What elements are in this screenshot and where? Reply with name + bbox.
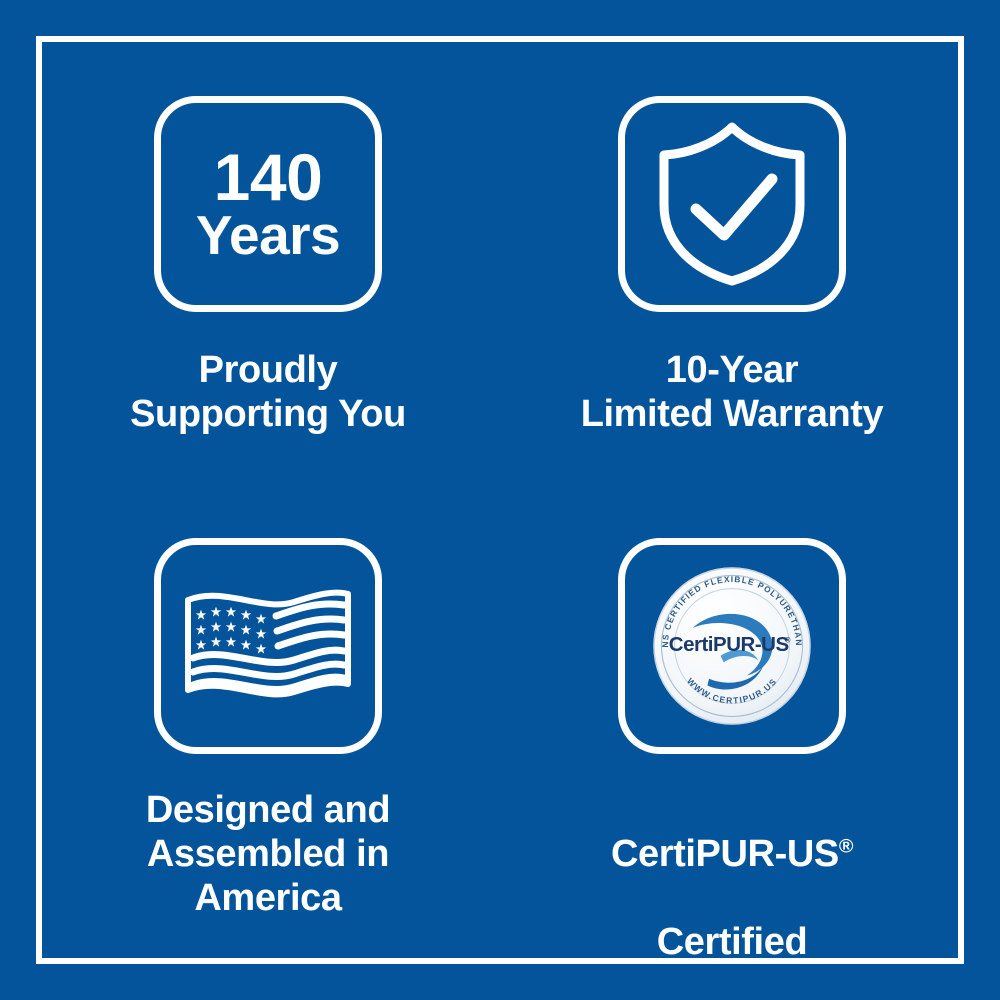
badge-warranty: 10-Year Limited Warranty <box>500 36 964 478</box>
flag-stars <box>196 606 266 653</box>
badge-caption-certipur-certified: CertiPUR-US® Certified <box>611 788 853 964</box>
shield-check-icon <box>652 121 812 287</box>
badge-certipur: CONTAINS CERTIFIED FLEXIBLE POLYURETHANE… <box>500 478 964 964</box>
badge-caption-designed-assembled-america: Designed and Assembled in America <box>146 788 390 920</box>
shield-check-icon-box <box>618 96 846 312</box>
badge-caption-limited-warranty: 10-Year Limited Warranty <box>581 348 884 436</box>
badge-grid: 140 Years Proudly Supporting You 10-Year… <box>36 36 964 964</box>
years-unit: Years <box>196 209 340 262</box>
text-badge-140-years-icon: 140 Years <box>154 96 382 312</box>
certipur-us-seal-icon-box: CONTAINS CERTIFIED FLEXIBLE POLYURETHANE… <box>618 538 846 754</box>
badge-made-in-america: Designed and Assembled in America <box>36 478 500 964</box>
certipur-caption-line1: CertiPUR-US <box>611 833 839 875</box>
us-flag-icon <box>184 586 352 706</box>
badge-years-in-business: 140 Years Proudly Supporting You <box>36 36 500 478</box>
flag-short-stripes <box>276 604 344 646</box>
product-feature-badges-panel: 140 Years Proudly Supporting You 10-Year… <box>0 0 1000 1000</box>
years-badge-text: 140 Years <box>196 145 340 262</box>
us-flag-icon-box <box>154 538 382 754</box>
years-number: 140 <box>196 145 340 209</box>
seal-wordmark-registered-mark: ® <box>785 635 791 644</box>
certipur-us-seal-icon: CONTAINS CERTIFIED FLEXIBLE POLYURETHANE… <box>650 564 814 728</box>
certipur-caption-line2: Certified <box>657 921 808 963</box>
registered-mark: ® <box>839 835 853 857</box>
badge-caption-proudly-supporting-you: Proudly Supporting You <box>130 348 406 436</box>
seal-wordmark: CertiPUR-US <box>669 633 789 656</box>
